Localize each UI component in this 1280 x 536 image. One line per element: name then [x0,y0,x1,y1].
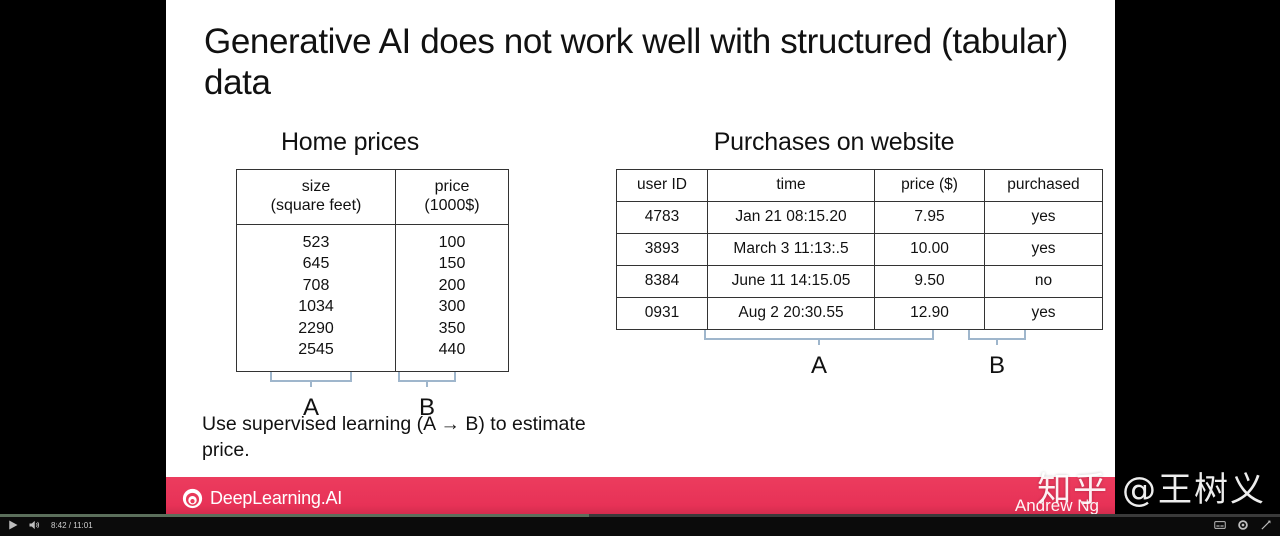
deeplearning-logo: DeepLearning.AI [182,488,342,509]
column-header-user-id: user ID [617,170,708,202]
cell-user-id: 8384 [617,266,708,298]
progress-bar-fill [0,514,589,517]
price-value: 100 [396,233,508,253]
slide-caption: Use supervised learning (A → B) to estim… [202,412,622,463]
deeplearning-spiral-icon [182,488,203,509]
purchases-table: user ID time price ($) purchased 4783 Ja… [616,169,1103,330]
price-value: 150 [396,254,508,274]
cell-time: Aug 2 20:30.55 [708,298,875,330]
table-header-row: user ID time price ($) purchased [617,170,1103,202]
size-value: 708 [237,276,395,296]
table-row: 3893 March 3 11:13:.5 10.00 yes [617,234,1103,266]
cell-price: 9.50 [875,266,985,298]
cell-time: June 11 14:15.05 [708,266,875,298]
subtitles-icon[interactable] [1214,519,1226,531]
column-header-size-line2: (square feet) [243,197,389,216]
cell-time: Jan 21 08:15.20 [708,202,875,234]
price-value: 350 [396,319,508,339]
column-header-price-line1: price [402,178,502,197]
cell-purchased: yes [985,234,1103,266]
price-values-cell: 100 150 200 300 350 440 [396,225,509,372]
slide-title: Generative AI does not work well with st… [204,22,1099,104]
column-header-size: size (square feet) [237,170,396,225]
cell-user-id: 0931 [617,298,708,330]
time-display: 8:42 / 11:01 [51,521,93,530]
brace-a [270,372,352,382]
table-row: 0931 Aug 2 20:30.55 12.90 yes [617,298,1103,330]
home-prices-heading: Home prices [210,128,490,157]
size-values-cell: 523 645 708 1034 2290 2545 [237,225,396,372]
zhihu-watermark: 知乎 @王树义 [1037,462,1266,511]
purchases-heading: Purchases on website [616,128,1052,157]
cell-price: 10.00 [875,234,985,266]
cell-user-id: 4783 [617,202,708,234]
purchases-braces [616,330,1076,346]
volume-icon[interactable] [28,519,40,531]
home-braces [202,372,532,388]
player-controls[interactable]: 8:42 / 11:01 [0,514,1280,536]
brace-b [398,372,456,382]
table-row: 8384 June 11 14:15.05 9.50 no [617,266,1103,298]
cell-purchased: yes [985,202,1103,234]
home-prices-table: size (square feet) price (1000$) 52 [236,169,509,372]
size-values-list: 523 645 708 1034 2290 2545 [237,225,395,371]
table-header-row: size (square feet) price (1000$) [237,170,509,225]
label-a: A [704,352,934,380]
column-header-price-line2: (1000$) [402,197,502,216]
cell-purchased: no [985,266,1103,298]
price-value: 200 [396,276,508,296]
column-header-price: price (1000$) [396,170,509,225]
play-icon[interactable] [7,519,19,531]
size-value: 645 [237,254,395,274]
label-b: B [968,352,1026,380]
size-value: 1034 [237,297,395,317]
cell-user-id: 3893 [617,234,708,266]
deeplearning-logo-text: DeepLearning.AI [210,488,342,509]
brace-a [704,330,934,340]
size-value: 2545 [237,340,395,360]
slide-canvas: Generative AI does not work well with st… [166,0,1115,522]
purchases-ab-labels: A B [616,346,1076,380]
cell-price: 12.90 [875,298,985,330]
brace-b [968,330,1026,340]
table-row: 4783 Jan 21 08:15.20 7.95 yes [617,202,1103,234]
gear-icon[interactable] [1237,519,1249,531]
cell-price: 7.95 [875,202,985,234]
video-player[interactable]: Generative AI does not work well with st… [0,0,1280,536]
price-value: 440 [396,340,508,360]
column-header-price: price ($) [875,170,985,202]
price-value: 300 [396,297,508,317]
progress-bar-track[interactable] [0,514,1280,517]
player-controls-left: 8:42 / 11:01 [7,519,93,531]
price-values-list: 100 150 200 300 350 440 [396,225,508,371]
column-header-time: time [708,170,875,202]
home-prices-block: Home prices size (square feet) price (10… [202,128,532,422]
table-row: 523 645 708 1034 2290 2545 100 1 [237,225,509,372]
column-header-purchased: purchased [985,170,1103,202]
player-controls-right [1214,519,1272,531]
size-value: 2290 [237,319,395,339]
fullscreen-icon[interactable] [1260,519,1272,531]
size-value: 523 [237,233,395,253]
cell-purchased: yes [985,298,1103,330]
column-header-size-line1: size [243,178,389,197]
purchases-block: Purchases on website user ID time price … [616,128,1076,380]
cell-time: March 3 11:13:.5 [708,234,875,266]
